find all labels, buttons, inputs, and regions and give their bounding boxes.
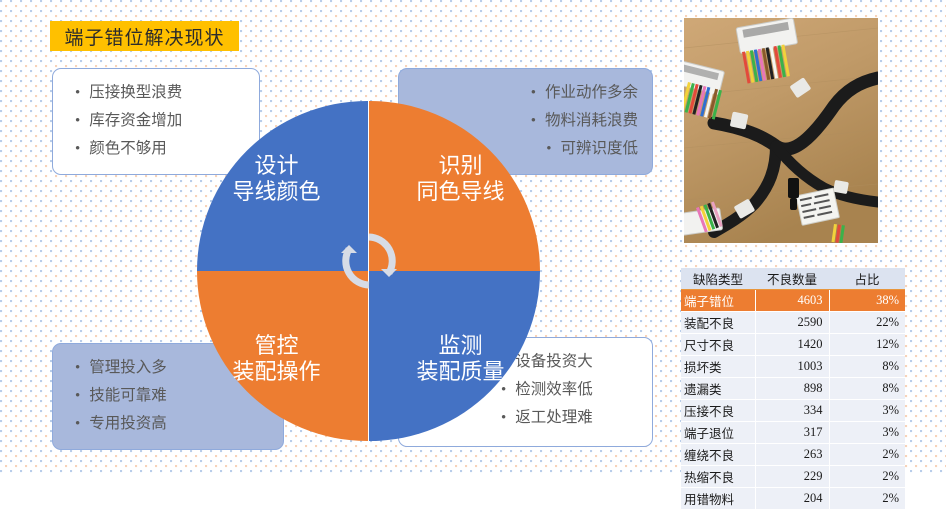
cell-qty: 1003 — [755, 356, 829, 378]
column-header-type: 缺陷类型 — [681, 268, 755, 290]
table-row[interactable]: 装配不良 2590 22% — [681, 312, 905, 334]
cell-type: 缠绕不良 — [681, 444, 755, 466]
cell-type: 端子退位 — [681, 422, 755, 444]
quadrant-label: 管控 装配操作 — [191, 333, 362, 385]
quadrant-label: 监测 装配质量 — [375, 333, 546, 385]
table-row[interactable]: 损坏类 1003 8% — [681, 356, 905, 378]
table-row[interactable]: 端子错位 4603 38% — [681, 290, 905, 312]
quadrant-title: 管控 — [191, 333, 362, 359]
table-row[interactable]: 端子退位 317 3% — [681, 422, 905, 444]
cell-qty: 204 — [755, 488, 829, 510]
list-item: 可辨识度低 — [546, 135, 638, 163]
defect-statistics-table: 缺陷类型 不良数量 占比 端子错位 4603 38% 装配不良 2590 22%… — [681, 268, 905, 510]
cell-type: 尺寸不良 — [681, 334, 755, 356]
column-header-qty: 不良数量 — [755, 268, 829, 290]
quadrant-monitoring[interactable]: 监测 装配质量 — [369, 271, 540, 441]
cell-qty: 898 — [755, 378, 829, 400]
quadrant-label: 设计 导线颜色 — [191, 153, 362, 205]
list-item: 物料消耗浪费 — [531, 107, 638, 135]
cell-qty: 1420 — [755, 334, 829, 356]
cell-pct: 8% — [829, 378, 905, 400]
quadrant-subtitle: 同色导线 — [375, 179, 546, 205]
table-row[interactable]: 压接不良 334 3% — [681, 400, 905, 422]
table-row[interactable]: 热缩不良 229 2% — [681, 466, 905, 488]
cell-pct: 38% — [829, 290, 905, 312]
column-header-pct: 占比 — [829, 268, 905, 290]
wire-harness-photo — [684, 18, 878, 243]
quadrant-title: 监测 — [375, 333, 546, 359]
cell-type: 装配不良 — [681, 312, 755, 334]
table-row[interactable]: 缠绕不良 263 2% — [681, 444, 905, 466]
cell-qty: 2590 — [755, 312, 829, 334]
cell-qty: 229 — [755, 466, 829, 488]
quadrant-subtitle: 导线颜色 — [191, 179, 362, 205]
slide-canvas: 端子错位解决现状 压接换型浪费 库存资金增加 颜色不够用 作业动作多余 物料消耗… — [0, 0, 946, 473]
cell-pct: 2% — [829, 444, 905, 466]
cell-qty: 317 — [755, 422, 829, 444]
quadrant-subtitle: 装配质量 — [375, 359, 546, 385]
cell-type: 热缩不良 — [681, 466, 755, 488]
cell-type: 损坏类 — [681, 356, 755, 378]
cell-pct: 3% — [829, 422, 905, 444]
table-row[interactable]: 用错物料 204 2% — [681, 488, 905, 510]
cell-type: 压接不良 — [681, 400, 755, 422]
cell-pct: 2% — [829, 466, 905, 488]
quadrant-title: 识别 — [375, 153, 546, 179]
page-title-text: 端子错位解决现状 — [64, 23, 224, 50]
cell-pct: 22% — [829, 312, 905, 334]
cell-pct: 8% — [829, 356, 905, 378]
table-header-row: 缺陷类型 不良数量 占比 — [681, 268, 905, 290]
table-row[interactable]: 尺寸不良 1420 12% — [681, 334, 905, 356]
cell-pct: 3% — [829, 400, 905, 422]
cell-qty: 4603 — [755, 290, 829, 312]
quadrant-control[interactable]: 管控 装配操作 — [197, 271, 368, 441]
cycle-arrows-icon — [337, 229, 401, 293]
cell-type: 遗漏类 — [681, 378, 755, 400]
cell-type: 端子错位 — [681, 290, 755, 312]
list-item: 作业动作多余 — [531, 79, 638, 107]
photo-content — [684, 18, 878, 243]
cell-type: 用错物料 — [681, 488, 755, 510]
page-title: 端子错位解决现状 — [50, 21, 239, 51]
cell-pct: 2% — [829, 488, 905, 510]
quadrant-label: 识别 同色导线 — [375, 153, 546, 205]
cell-qty: 263 — [755, 444, 829, 466]
cell-qty: 334 — [755, 400, 829, 422]
quadrant-subtitle: 装配操作 — [191, 359, 362, 385]
cell-pct: 12% — [829, 334, 905, 356]
quadrant-title: 设计 — [191, 153, 362, 179]
four-quadrant-wheel: 设计 导线颜色 识别 同色导线 管控 装配操作 监测 装配质量 — [197, 101, 540, 441]
table-row[interactable]: 遗漏类 898 8% — [681, 378, 905, 400]
